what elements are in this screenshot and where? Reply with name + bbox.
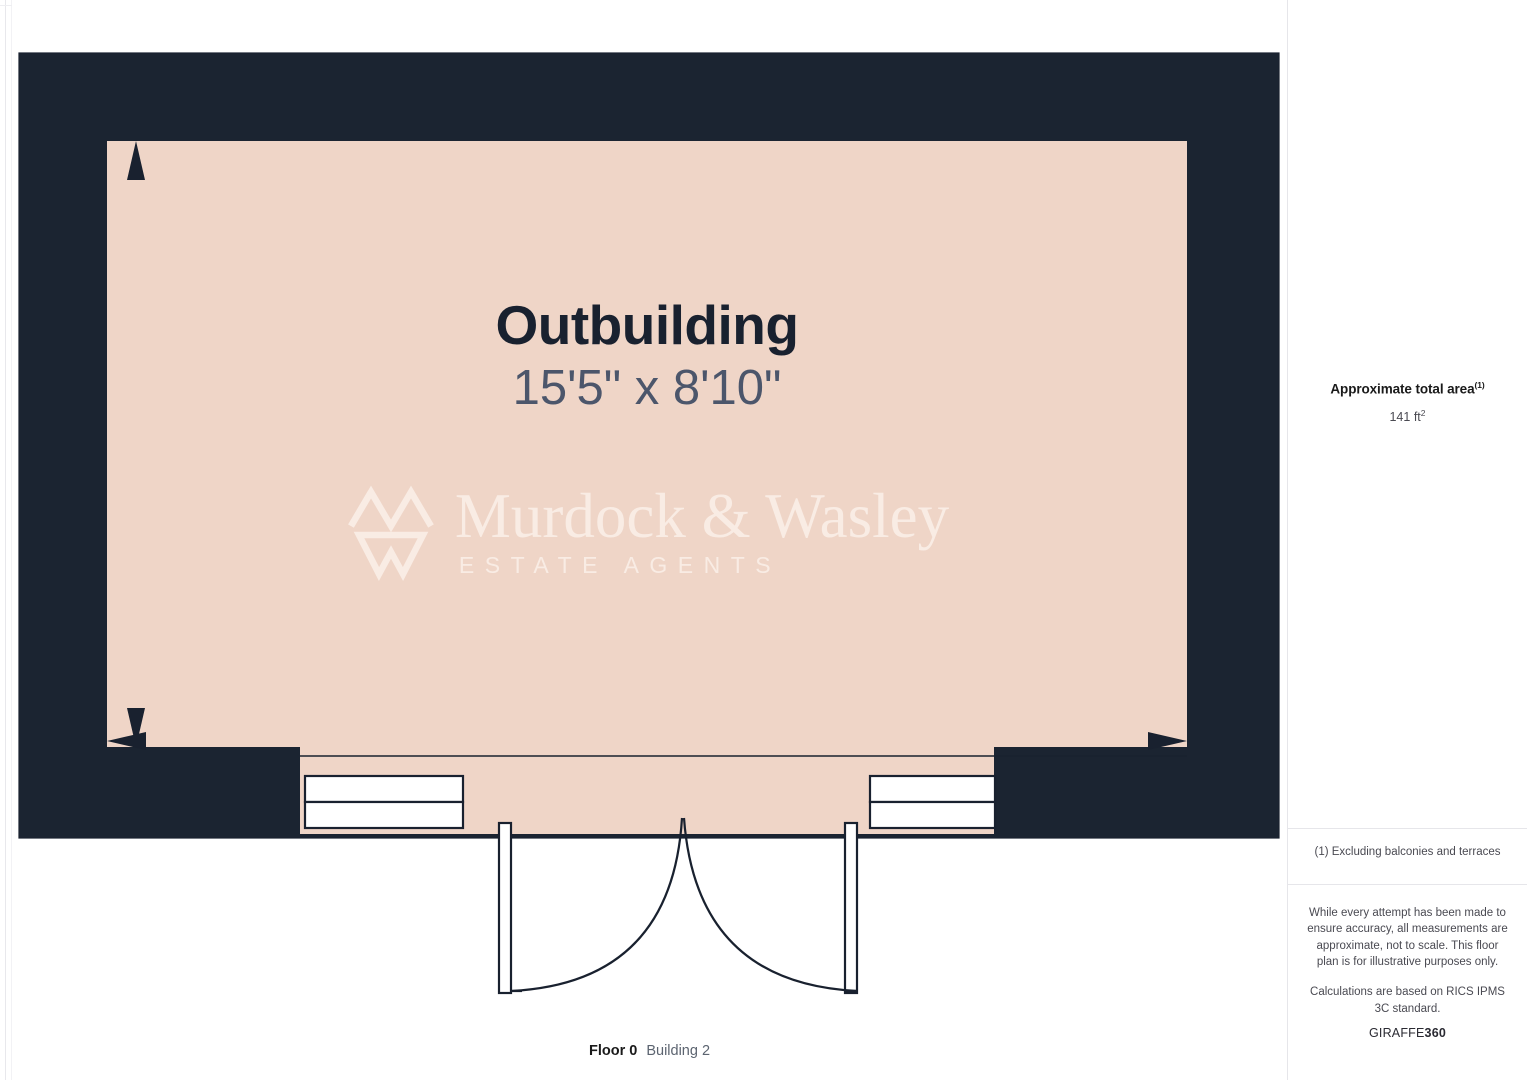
total-area-title: Approximate total area(1) (1288, 380, 1527, 397)
disclaimer-accuracy: While every attempt has been made to ens… (1306, 905, 1509, 970)
info-divider-bottom (1288, 884, 1527, 885)
page-edge-rule-outer (5, 0, 6, 1080)
info-divider-top (1288, 828, 1527, 829)
brand-prefix: GIRAFFE (1369, 1026, 1425, 1040)
total-area-footnote-marker: (1) (1475, 380, 1485, 390)
floorplan-canvas[interactable]: Outbuilding 15'5" x 8'10" Murdock & Wasl… (12, 0, 1287, 1080)
brand-suffix: 360 (1425, 1026, 1446, 1040)
area-footnote: (1) Excluding balconies and terraces (1288, 846, 1527, 858)
room-floor-fill (107, 141, 1187, 747)
total-area-number: 141 ft (1389, 410, 1420, 424)
building-label: Building 2 (646, 1043, 710, 1059)
floor-caption: Floor 0Building 2 (12, 1043, 1287, 1059)
total-area-unit-exponent: 2 (1421, 408, 1426, 418)
floorplan-page: Outbuilding 15'5" x 8'10" Murdock & Wasl… (0, 0, 1527, 1080)
window-left-icon (305, 776, 463, 828)
double-door-icon (499, 818, 857, 993)
total-area-title-text: Approximate total area (1330, 382, 1474, 397)
floor-label: Floor 0 (589, 1043, 637, 1059)
total-area-value: 141 ft2 (1288, 408, 1527, 424)
giraffe360-brand: GIRAFFE360 (1288, 1026, 1527, 1040)
info-sidebar: Approximate total area(1) 141 ft2 (1) Ex… (1287, 0, 1527, 1080)
window-right-icon (870, 776, 995, 828)
disclaimer-block: While every attempt has been made to ens… (1306, 905, 1509, 1017)
total-area-block: Approximate total area(1) 141 ft2 (1288, 380, 1527, 424)
floorplan-drawing (12, 0, 1287, 1080)
disclaimer-standard: Calculations are based on RICS IPMS 3C s… (1306, 984, 1509, 1017)
